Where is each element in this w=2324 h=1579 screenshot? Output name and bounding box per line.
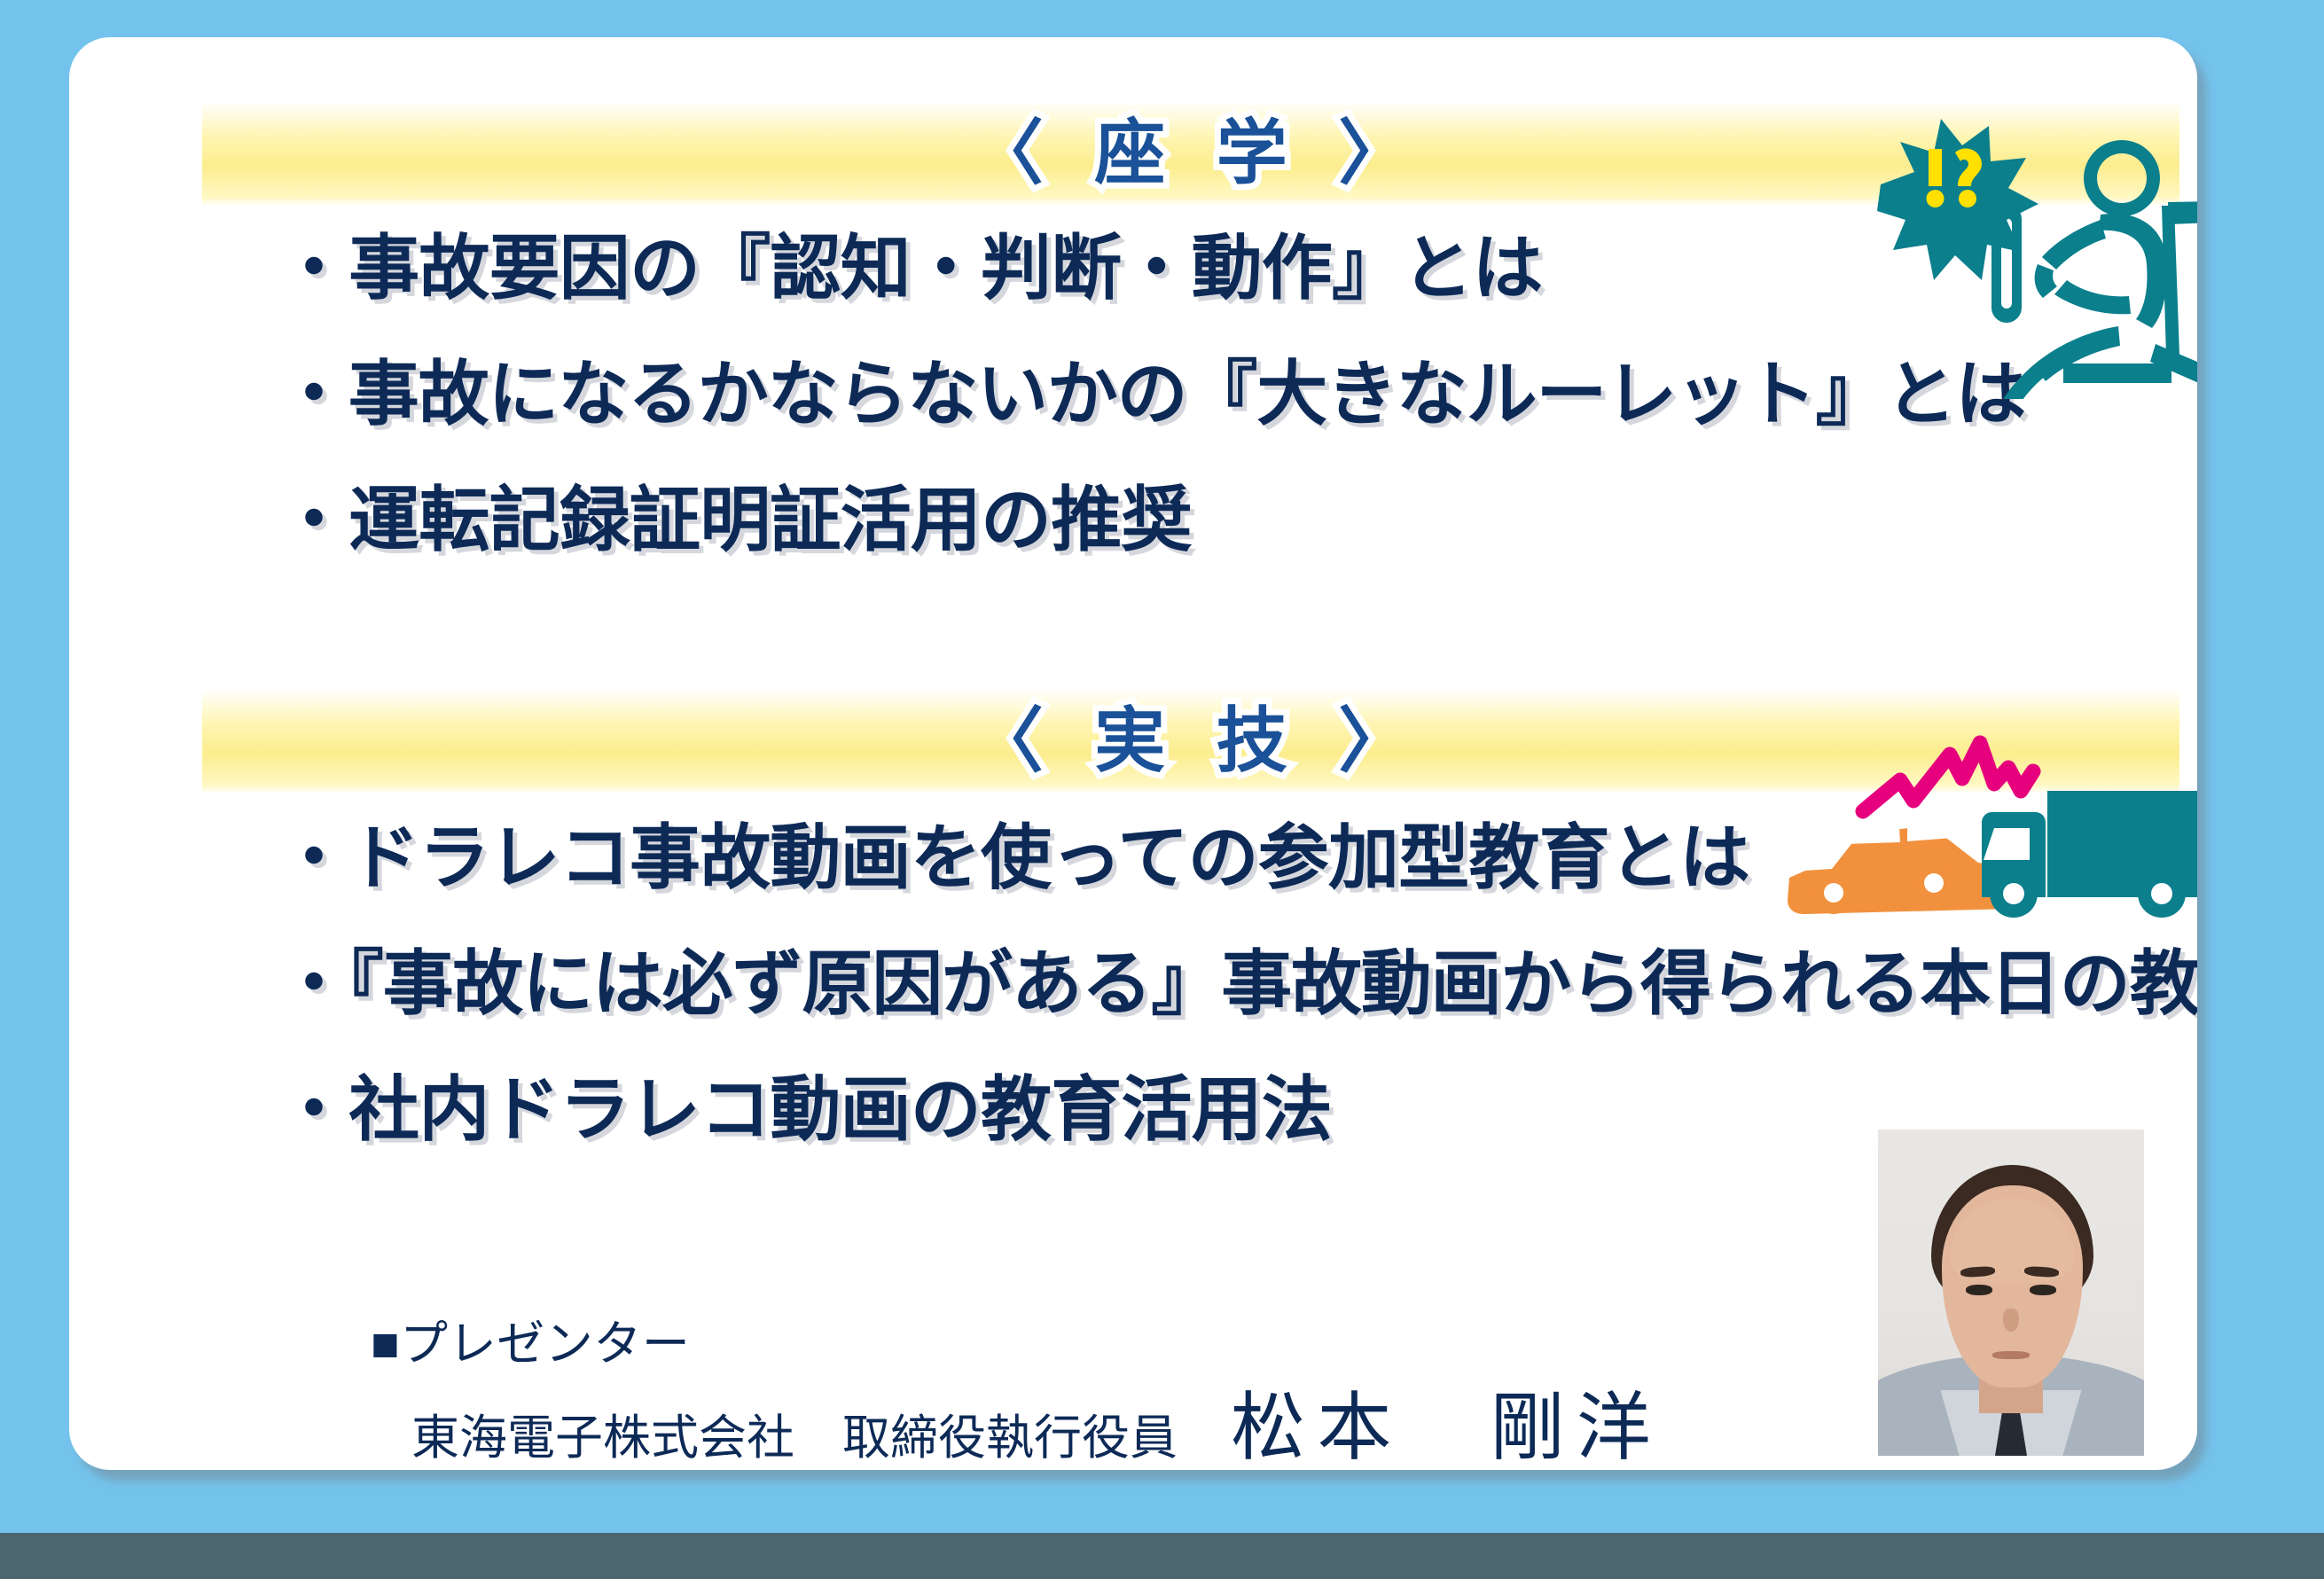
presenter-block: ■プレゼンター 東海電子株式会社 取締役執行役員 松本 剛洋 xyxy=(371,1314,1663,1469)
slide-stage: 〈 座 学 〉 ・事故要因の『認知・判断・動作』とは ・事故になるかならないかの… xyxy=(0,0,2324,1579)
photo-mouth xyxy=(1992,1351,2030,1359)
banner-title-zagaku: 〈 座 学 〉 xyxy=(957,118,1424,189)
presenter-name: 松本 剛洋 xyxy=(1231,1380,1663,1470)
slide-card: 〈 座 学 〉 ・事故要因の『認知・判断・動作』とは ・事故になるかならないかの… xyxy=(69,37,2197,1470)
presenter-label: ■プレゼンター xyxy=(371,1314,1663,1375)
presenter-photo xyxy=(1878,1130,2144,1456)
presenter-details: 東海電子株式会社 取締役執行役員 松本 剛洋 xyxy=(411,1380,1663,1469)
banner-title-jitsugi: 〈 実 技 〉 xyxy=(957,706,1424,777)
list-item: ・運転記録証明証活用の推奨 xyxy=(69,457,2197,583)
photo-eye-left xyxy=(1966,1285,1992,1295)
car-truck-collision-icon xyxy=(1758,718,2197,958)
photo-nose xyxy=(2003,1309,2019,1332)
presenter-affiliation: 東海電子株式会社 取締役執行役員 xyxy=(411,1408,1178,1469)
impact-burst-icon xyxy=(1863,743,2033,811)
seated-driver-icon xyxy=(1856,106,2197,399)
bottom-bar xyxy=(0,1533,2324,1579)
photo-eye-right xyxy=(2030,1285,2056,1295)
